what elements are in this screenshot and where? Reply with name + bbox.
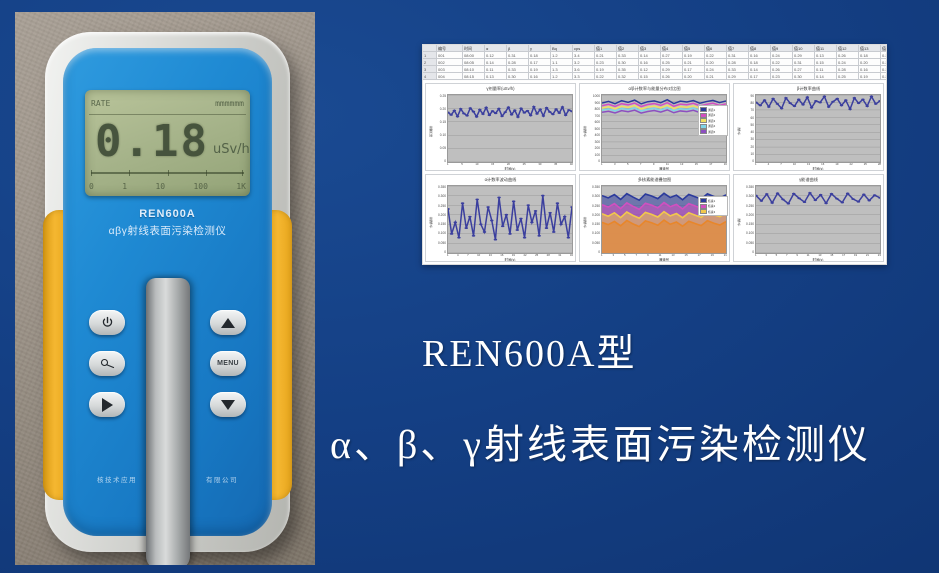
chart-y-tick: 0 [433,250,446,254]
chart-legend-label: 通道2 [708,113,715,117]
spreadsheet-cell[interactable]: 0.32 [617,73,639,80]
spreadsheet-cell[interactable]: 0.27 [793,66,815,73]
chart-y-tick: 0 [587,250,600,254]
spreadsheet-cell[interactable]: 0.23 [771,73,793,80]
spreadsheet-row[interactable]: 300308:100.110.330.191.33.60.190.350.120… [423,66,886,73]
spreadsheet-cell[interactable]: 0.11 [485,66,507,73]
chart-plot-wrapper: 147101316192225283134时间(s) [447,184,573,261]
chart-plot-area [447,94,573,163]
chart-legend-item: 通道5 [700,129,726,134]
chart-y-tick: 1000 [587,94,600,98]
chart-title: α/β计数率与能量分布对比图 [580,84,729,93]
chart-y-tick: 300 [587,140,600,144]
spreadsheet-cell[interactable]: 0.26 [661,73,683,80]
chart-y-tick: 0.250 [587,204,600,208]
spreadsheet-cell[interactable]: 值10 [793,45,815,52]
chart-legend-swatch [700,124,707,129]
spreadsheet-cell[interactable]: 3.2 [573,59,595,66]
spreadsheet-cell[interactable]: 0.14 [639,52,661,59]
chart-y-tick: 0.050 [741,241,754,245]
chart-x-axis-label: 时间(s) [447,257,573,262]
chart-4: α计数率波动曲线计数率0.3500.3000.2500.2000.1500.10… [425,174,576,262]
software-screenshot-panel: 编号时间αβγBqcps值1值2值3值4值5值6值7值8值9值10值11值12值… [422,44,887,265]
spreadsheet-cell[interactable]: 值2 [617,45,639,52]
chart-y-tick: 0 [741,250,754,254]
chart-y-tick: 0 [587,159,600,163]
title-line-1: REN600A型 [422,322,922,377]
lcd-scale-label: 1 [122,182,127,194]
chart-y-tick: 0.20 [433,107,446,111]
spreadsheet-cell[interactable]: α [485,45,507,52]
chart-y-ticks: 0.250.200.150.100.050 [433,93,447,170]
chart-legend-item: 通道2 [700,113,726,118]
chart-body: 剂量率0.250.200.150.100.0501510152025303540… [426,93,575,170]
spreadsheet-cell[interactable]: 值9 [771,45,793,52]
spreadsheet-cell[interactable]: 0.21 [595,52,617,59]
lcd-status-right: mmmmmm [215,99,244,108]
lcd-scale-label: 100 [193,182,207,194]
spreadsheet-cell[interactable]: 0.25 [661,59,683,66]
spreadsheet-cell[interactable]: 0.22 [881,52,886,59]
chart-y-tick: 0 [433,159,446,163]
lcd-unit: uSv/h [213,142,250,157]
spreadsheet-cell[interactable]: 002 [437,59,463,66]
spreadsheet-cell[interactable]: 值14 [881,45,886,52]
chart-x-axis-label: 通道号 [601,166,727,171]
chart-y-tick: 90 [741,94,754,98]
spreadsheet-cell[interactable]: 0.11 [815,66,837,73]
chart-y-tick: 70 [741,108,754,112]
spreadsheet-cell[interactable]: 0.23 [881,73,886,80]
chart-legend-item: 通道1 [700,107,726,112]
data-spreadsheet[interactable]: 编号时间αβγBqcps值1值2值3值4值5值6值7值8值9值10值11值12值… [423,45,886,81]
chart-y-tick: 30 [741,137,754,141]
device-footer-right: 有限公司 [206,474,238,484]
chart-y-tick: 0.100 [587,231,600,235]
spreadsheet-cell[interactable]: 1.2 [551,73,573,80]
chart-legend-item: 通道3 [700,118,726,123]
spreadsheet-cell[interactable]: 0.21 [705,73,727,80]
slide: RATE mmmmmm 0.18 uSv/h [0,0,939,573]
chart-1: γ剂量率(uSv/h)剂量率0.250.200.150.100.05015101… [425,83,576,171]
spreadsheet-cell[interactable]: 0.12 [485,52,507,59]
chart-body: 计数率0.3500.3000.2500.2000.1500.1000.05001… [580,184,729,261]
chart-y-tick: 0.25 [433,94,446,98]
power-icon [101,316,114,329]
chart-body: 计数0.3500.3000.2500.2000.1500.1000.050013… [734,184,883,261]
spreadsheet-cell[interactable]: β [507,45,529,52]
spreadsheet-cell[interactable]: 0.12 [639,66,661,73]
triangle-up-icon [221,318,235,328]
chart-legend-label: 通道1 [708,108,715,112]
spreadsheet-cell[interactable]: 0.26 [771,66,793,73]
chart-legend-swatch [700,113,707,118]
chart-y-tick: 0.10 [433,133,446,137]
chart-legend-swatch [700,118,707,123]
spreadsheet-cell[interactable]: 3 [423,66,437,73]
chart-y-tick: 0.050 [433,241,446,245]
spreadsheet-cell[interactable]: 0.16 [749,52,771,59]
spreadsheet-cell[interactable]: 0.29 [661,66,683,73]
chart-y-tick: 0.100 [741,231,754,235]
chart-legend-swatch [700,107,707,112]
lcd-bargraph-tick [129,170,130,176]
chart-title: β计数率曲线 [734,84,883,93]
menu-button-label: MENU [217,360,239,367]
spreadsheet-cell[interactable]: 0.18 [749,59,771,66]
spreadsheet-cell[interactable]: 0.22 [705,52,727,59]
chart-legend-label: 通道3 [708,119,715,123]
spreadsheet-cell[interactable]: 值11 [815,45,837,52]
chart-y-tick: 40 [741,130,754,134]
spreadsheet-cell[interactable]: 1.2 [551,52,573,59]
chart-plot-area [755,185,881,254]
spreadsheet-cell[interactable]: 0.35 [617,66,639,73]
spreadsheet-cell[interactable]: 0.30 [507,73,529,80]
chart-y-tick: 0.15 [433,120,446,124]
spreadsheet-cell[interactable]: 0.30 [793,73,815,80]
spreadsheet-cell[interactable]: 0.28 [837,66,859,73]
chart-legend-label: 核素3 [708,210,715,214]
chart-y-tick: 0.150 [587,222,600,226]
spreadsheet-cell[interactable]: 1.3 [551,66,573,73]
device-model-label: REN600A [63,208,272,220]
lcd-divider [89,114,246,115]
chart-y-tick: 0.050 [587,241,600,245]
chart-legend-label: 通道5 [708,130,715,134]
power-button[interactable] [89,310,125,335]
spreadsheet-cell[interactable]: 值7 [727,45,749,52]
chart-grid: γ剂量率(uSv/h)剂量率0.250.200.150.100.05015101… [425,83,884,262]
spreadsheet-cell[interactable]: 0.22 [595,73,617,80]
chart-plot-area [755,94,881,163]
chart-legend-swatch [700,129,707,134]
spreadsheet-cell[interactable]: 0.33 [727,66,749,73]
spreadsheet-cell[interactable]: Bq [551,45,573,52]
spreadsheet-cell[interactable]: 0.33 [507,66,529,73]
detector-device: RATE mmmmmm 0.18 uSv/h [45,32,290,552]
spreadsheet-cell[interactable]: 4 [423,73,437,80]
spreadsheet-cell[interactable]: 1.1 [551,59,573,66]
spreadsheet-cell[interactable]: 001 [437,52,463,59]
chart-y-axis-label: 计数 [735,184,741,261]
spreadsheet-cell[interactable]: 值8 [749,45,771,52]
chart-legend-label: 核素2 [708,204,715,208]
chart-legend-item: 核素2 [700,204,726,209]
chart-y-tick: 800 [587,107,600,111]
chart-y-tick: 500 [587,127,600,131]
spreadsheet-cell[interactable]: 0.21 [683,59,705,66]
spreadsheet-cell[interactable]: 值13 [859,45,881,52]
spreadsheet-cell[interactable]: 值1 [595,45,617,52]
spreadsheet-cell[interactable]: 1 [423,52,437,59]
chart-y-ticks: 0.3500.3000.2500.2000.1500.1000.0500 [433,184,447,261]
spreadsheet-cell[interactable]: 0.18 [859,52,881,59]
lcd-bargraph-tick [168,170,169,176]
chart-legend-label: 核素1 [708,199,715,203]
chart-y-tick: 0.200 [587,213,600,217]
spreadsheet-cell[interactable]: 0.25 [837,73,859,80]
spreadsheet-cell[interactable]: 0.15 [815,59,837,66]
spreadsheet-cell[interactable]: 0.14 [749,66,771,73]
chart-y-tick: 20 [741,145,754,149]
spreadsheet-cell[interactable]: 0.31 [507,52,529,59]
spreadsheet-cell[interactable]: 编号 [437,45,463,52]
chart-y-tick: 0.300 [433,194,446,198]
chart-y-ticks: 10009008007006005004003002001000 [587,93,601,170]
spreadsheet-cell[interactable]: 0.16 [529,73,551,80]
chart-body: 计数908070605040302010014710131619222528时间… [734,93,883,170]
chart-title: α计数率波动曲线 [426,175,575,184]
spreadsheet-cell[interactable]: 值6 [705,45,727,52]
spreadsheet-cell[interactable]: 0.20 [859,59,881,66]
lcd-scale-label: 10 [155,182,165,194]
spreadsheet-cell[interactable]: 3.3 [573,73,595,80]
lcd-bargraph-tick [206,170,207,176]
chart-y-tick: 600 [587,120,600,124]
spreadsheet-cell[interactable]: 08:10 [463,66,485,73]
spreadsheet-cell[interactable]: 0.31 [727,52,749,59]
spreadsheet-cell[interactable]: 3.4 [573,52,595,59]
chart-y-tick: 0.250 [433,204,446,208]
spreadsheet-cell[interactable]: 0.24 [837,59,859,66]
spreadsheet-cell[interactable]: 08:15 [463,73,485,80]
chart-y-ticks: 0.3500.3000.2500.2000.1500.1000.0500 [741,184,755,261]
spreadsheet-cell[interactable]: 时间 [463,45,485,52]
device-footer-left: 核技术应用 [97,474,137,484]
chart-plot-area [447,185,573,254]
chart-y-tick: 0.350 [433,185,446,189]
chart-plot-wrapper: 1510152025303540时间(s) [447,93,573,170]
chart-legend-item: 通道4 [700,124,726,129]
chart-plot-wrapper: 1357911131517192123时间(s) [755,184,881,261]
lcd-reading: 0.18 uSv/h [95,116,244,168]
chart-y-tick: 0.150 [433,222,446,226]
chart-y-tick: 0.300 [587,194,600,198]
spreadsheet-cell[interactable]: 0.22 [771,59,793,66]
chart-y-tick: 400 [587,133,600,137]
spreadsheet-cell[interactable]: 004 [437,73,463,80]
spreadsheet-cell[interactable]: 0.26 [837,52,859,59]
chart-y-tick: 900 [587,101,600,105]
spreadsheet-cell[interactable]: 0.29 [793,52,815,59]
chart-y-axis-label: 计数 [735,93,741,170]
chart-y-tick: 0.250 [741,204,754,208]
spreadsheet-cell[interactable]: 0.19 [529,66,551,73]
chart-y-tick: 700 [587,114,600,118]
chart-x-axis-label: 时间(s) [755,166,881,171]
product-photo: RATE mmmmmm 0.18 uSv/h [15,12,315,565]
hand-strap [146,278,190,565]
spreadsheet-cell[interactable]: 值4 [661,45,683,52]
spreadsheet-cell[interactable]: 0.14 [485,59,507,66]
chart-legend: 通道1通道2通道3通道4通道5 [698,105,728,136]
play-button[interactable] [89,392,125,417]
chart-y-tick: 0.200 [433,213,446,217]
spreadsheet-cell[interactable]: 0.17 [749,73,771,80]
chart-y-tick: 10 [741,152,754,156]
chart-y-ticks: 9080706050403020100 [741,93,755,170]
spreadsheet-cell[interactable]: 08:05 [463,59,485,66]
spreadsheet-cell[interactable]: 0.28 [727,59,749,66]
chart-legend-label: 通道4 [708,124,715,128]
chart-y-tick: 60 [741,116,754,120]
lcd-status-bar: RATE mmmmmm [91,95,244,111]
spreadsheet-cell[interactable]: 0.28 [507,59,529,66]
chart-y-axis-label: 计数率 [427,184,433,261]
spreadsheet-cell[interactable]: 值5 [683,45,705,52]
spreadsheet-cell[interactable]: 08:00 [463,52,485,59]
chart-y-tick: 0.200 [741,213,754,217]
chart-x-axis-label: 时间(s) [447,166,573,171]
spreadsheet-cell[interactable]: 0.21 [881,59,886,66]
lcd-scale-labels: 0 1 10 100 1K [89,182,246,194]
spreadsheet-cell[interactable]: 0.27 [661,52,683,59]
spreadsheet-cell[interactable]: 0.24 [881,66,886,73]
device-model-sublabel: αβγ射线表面污染检测仪 [63,223,272,238]
chart-6: γ能谱曲线计数0.3500.3000.2500.2000.1500.1000.0… [733,174,884,262]
spreadsheet-cell[interactable]: 0.17 [683,66,705,73]
chart-body: 计数率1000900800700600500400300200100013579… [580,93,729,170]
triangle-down-icon [221,400,235,410]
chart-y-tick: 200 [587,146,600,150]
spreadsheet-cell[interactable]: 值3 [639,45,661,52]
spreadsheet-row[interactable]: 200208:050.140.280.171.13.20.230.300.160… [423,59,886,66]
spreadsheet-cell[interactable] [423,45,437,52]
chart-legend-swatch [700,198,707,203]
chart-legend-item: 核素1 [700,198,726,203]
spreadsheet-cell[interactable]: 0.19 [683,52,705,59]
lcd-status-left: RATE [91,99,110,108]
chart-plot-wrapper: 14710131619222528时间(s) [755,93,881,170]
spreadsheet-cell[interactable]: 0.24 [705,66,727,73]
spreadsheet-cell[interactable]: 0.23 [595,59,617,66]
spreadsheet-cell[interactable]: 0.33 [617,52,639,59]
chart-title: γ能谱曲线 [734,175,883,184]
spreadsheet-cell[interactable]: 0.16 [639,59,661,66]
spreadsheet-cell[interactable]: 0.14 [815,73,837,80]
up-button[interactable] [210,310,246,335]
lcd-bargraph-tick [91,170,92,176]
spreadsheet-cell[interactable]: 0.17 [529,59,551,66]
chart-y-tick: 0.05 [433,146,446,150]
spreadsheet-cell[interactable]: 0.29 [727,73,749,80]
chart-y-tick: 0.300 [741,194,754,198]
lcd-bargraph-tick [242,170,243,176]
lcd-value: 0.18 [95,120,209,164]
chart-legend: 核素1核素2核素3 [698,196,728,216]
chart-y-ticks: 0.3500.3000.2500.2000.1500.1000.0500 [587,184,601,261]
chart-legend-swatch [700,209,707,214]
chart-body: 计数率0.3500.3000.2500.2000.1500.1000.05001… [426,184,575,261]
spreadsheet-cell[interactable]: 0.20 [705,59,727,66]
spreadsheet-cell[interactable]: 3.6 [573,66,595,73]
chart-x-axis-label: 通道号 [601,257,727,262]
spreadsheet-cell[interactable]: 0.15 [639,73,661,80]
spreadsheet-cell[interactable]: 0.19 [859,73,881,80]
chart-y-tick: 0.100 [433,231,446,235]
chart-y-tick: 80 [741,101,754,105]
chart-x-axis-label: 时间(s) [755,257,881,262]
spreadsheet-cell[interactable]: 0.13 [485,73,507,80]
spreadsheet-cell[interactable]: 值12 [837,45,859,52]
spreadsheet-cell[interactable]: 2 [423,59,437,66]
chart-5: 多核素能谱叠加图计数率0.3500.3000.2500.2000.1500.10… [579,174,730,262]
chart-y-tick: 50 [741,123,754,127]
chart-2: α/β计数率与能量分布对比图计数率10009008007006005004003… [579,83,730,171]
lcd-scale-label: 0 [89,182,94,194]
spreadsheet-cell[interactable]: 0.30 [617,59,639,66]
spreadsheet-cell[interactable]: 003 [437,66,463,73]
chart-3: β计数率曲线计数90807060504030201001471013161922… [733,83,884,171]
chart-y-tick: 0.350 [587,185,600,189]
chart-legend-item: 核素3 [700,209,726,214]
chart-y-tick: 0.150 [741,222,754,226]
spreadsheet-row[interactable]: 100108:000.120.310.181.23.40.210.330.140… [423,52,886,59]
title-line-2: α、β、γ射线表面污染检测仪 [330,412,930,470]
chart-y-tick: 100 [587,153,600,157]
chart-y-tick: 0.350 [741,185,754,189]
spreadsheet-cell[interactable]: 0.16 [859,66,881,73]
lcd-scale-label: 1K [236,182,246,194]
spreadsheet-cell[interactable]: 0.13 [815,52,837,59]
spreadsheet-row[interactable]: 编号时间αβγBqcps值1值2值3值4值5值6值7值8值9值10值11值12值… [423,45,886,52]
spreadsheet-cell[interactable]: 0.18 [529,52,551,59]
spreadsheet-cell[interactable]: cps [573,45,595,52]
play-icon [102,398,113,412]
magnifier-icon [100,358,115,369]
chart-legend-swatch [700,204,707,209]
lcd-bargraph [91,170,244,176]
spreadsheet-row[interactable]: 400408:150.130.300.161.23.30.220.320.150… [423,73,886,80]
spreadsheet-cell[interactable]: 0.19 [595,66,617,73]
chart-y-tick: 0 [741,159,754,163]
menu-button[interactable]: MENU [210,351,246,376]
spreadsheet-cell[interactable]: 0.31 [793,59,815,66]
chart-y-axis-label: 计数率 [581,93,587,170]
chart-y-axis-label: 计数率 [581,184,587,261]
down-button[interactable] [210,392,246,417]
spreadsheet-cell[interactable]: 0.20 [683,73,705,80]
chart-y-axis-label: 剂量率 [427,93,433,170]
spreadsheet-cell[interactable]: 0.24 [771,52,793,59]
chart-title: 多核素能谱叠加图 [580,175,729,184]
lcd-display: RATE mmmmmm 0.18 uSv/h [85,90,250,196]
spreadsheet-cell[interactable]: γ [529,45,551,52]
chart-title: γ剂量率(uSv/h) [426,84,575,93]
search-button[interactable] [89,351,125,376]
